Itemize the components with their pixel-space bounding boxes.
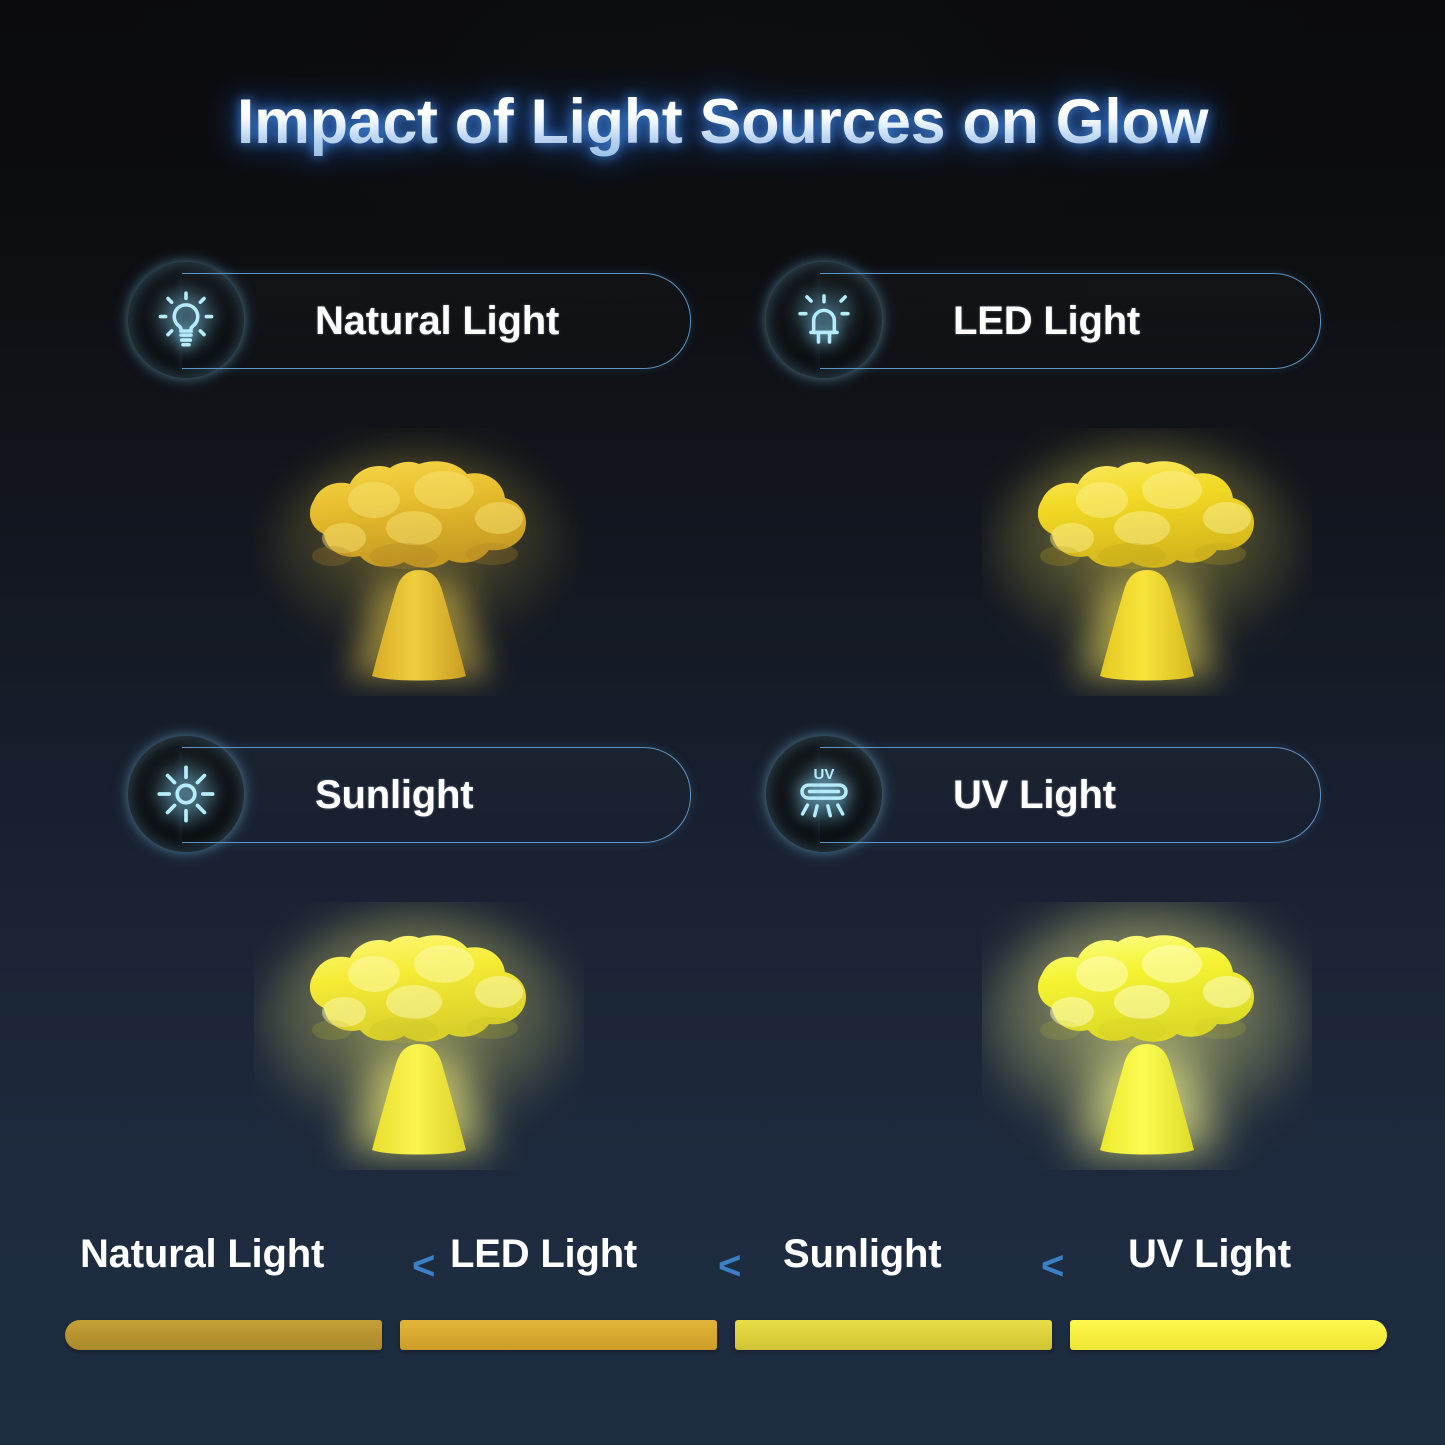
panel-uv-light: UV UV Light [758,724,1432,1196]
scale-separator-3: < [1041,1240,1064,1292]
scale-bar-uv-light [1070,1320,1387,1350]
panel-led-light: LED Light [758,250,1432,722]
scale-bar-led-light [400,1320,717,1350]
panel-sunlight: Sunlight [120,724,704,1196]
glow-tree-lamp [254,902,584,1170]
scale-bar-row [0,1320,1445,1356]
scale-bar-sunlight [735,1320,1052,1350]
panel-label-pill-natural-light[interactable]: Natural Light [182,273,691,369]
lamp-figure-natural-light [134,402,704,722]
panel-natural-light: Natural Light [120,250,704,722]
panel-header-uv-light: UV UV Light [758,724,1432,864]
glow-tree-lamp [982,902,1312,1170]
panel-header-led-light: LED Light [758,250,1432,390]
panel-label-led-light: LED Light [953,299,1140,344]
panel-label-sunlight: Sunlight [315,773,473,818]
lamp-figure-sunlight [134,876,704,1196]
lamp-figure-led-light [862,402,1432,722]
glow-tree-lamp [254,428,584,696]
panel-label-pill-led-light[interactable]: LED Light [820,273,1321,369]
page-title-text: Impact of Light Sources on Glow [0,86,1445,158]
scale-label-natural-light: Natural Light [80,1232,324,1277]
scale-separator-1: < [412,1240,435,1292]
scale-bar-natural-light [65,1320,382,1350]
scale-separator-2: < [718,1240,741,1292]
glow-intensity-scale: Natural Light < LED Light < Sunlight < U… [0,1232,1445,1392]
scale-label-led-light: LED Light [450,1232,637,1277]
scale-label-uv-light: UV Light [1128,1232,1291,1277]
panel-label-uv-light: UV Light [953,773,1116,818]
page-title: Impact of Light Sources on Glow Impact o… [0,86,1445,158]
panel-header-natural-light: Natural Light [120,250,704,390]
panel-label-pill-sunlight[interactable]: Sunlight [182,747,691,843]
panel-label-pill-uv-light[interactable]: UV Light [820,747,1321,843]
panel-header-sunlight: Sunlight [120,724,704,864]
glow-tree-lamp [982,428,1312,696]
lamp-figure-uv-light [862,876,1432,1196]
infographic-canvas: Impact of Light Sources on Glow Impact o… [0,0,1445,1445]
scale-label-row: Natural Light < LED Light < Sunlight < U… [0,1232,1445,1304]
panel-label-natural-light: Natural Light [315,299,559,344]
scale-label-sunlight: Sunlight [783,1232,941,1277]
